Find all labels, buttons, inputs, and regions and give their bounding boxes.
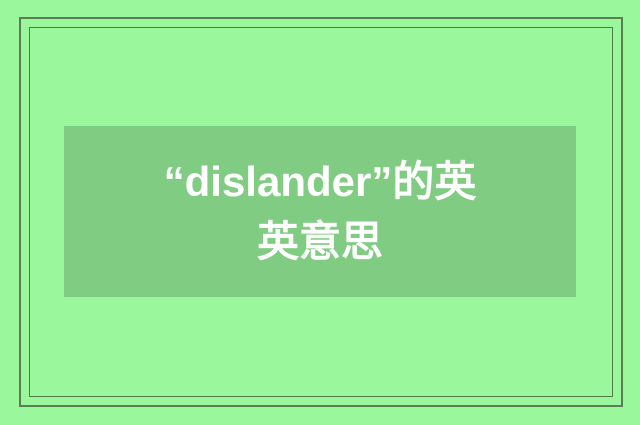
headline-text: “dislander”的英英意思 xyxy=(155,152,485,271)
headline-panel: “dislander”的英英意思 xyxy=(64,126,576,297)
image-card: “dislander”的英英意思 xyxy=(0,0,640,425)
